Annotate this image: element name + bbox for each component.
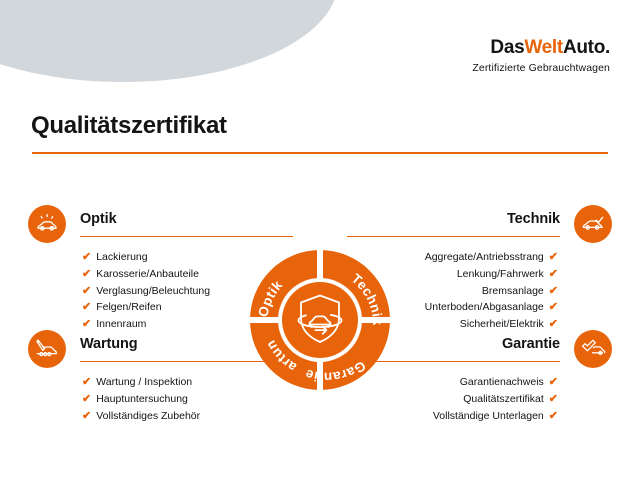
car-check-icon — [574, 205, 612, 243]
check-icon: ✔ — [82, 285, 91, 297]
list-item-label: Bremsanlage — [482, 285, 544, 297]
brand-word-das: Das — [490, 37, 524, 58]
panel-title-optik: Optik — [80, 211, 117, 227]
car-guarantee-check-icon — [574, 330, 612, 368]
list-item-label: Lenkung/Fahrwerk — [457, 268, 544, 280]
list-item: Vollständige Unterlagen✔ — [347, 408, 558, 425]
title-divider — [32, 152, 608, 154]
brand-word-auto: Auto. — [563, 37, 610, 58]
list-item-label: Vollständiges Zubehör — [96, 410, 200, 422]
brand-logo: DasWeltAuto. Zertifizierte Gebrauchtwage… — [472, 38, 610, 74]
wheel-center-disc — [282, 282, 358, 358]
check-icon: ✔ — [549, 393, 558, 405]
list-item-label: Vollständige Unterlagen — [433, 410, 544, 422]
page-title: Qualitätszertifikat — [31, 112, 227, 140]
check-icon: ✔ — [82, 251, 91, 263]
list-item-label: Felgen/Reifen — [96, 301, 161, 313]
check-icon: ✔ — [82, 376, 91, 388]
check-icon: ✔ — [82, 410, 91, 422]
list-item-label: Lackierung — [96, 251, 147, 263]
brand-word-welt: Welt — [524, 37, 563, 58]
check-icon: ✔ — [82, 268, 91, 280]
brand-wordmark: DasWeltAuto. — [472, 38, 610, 57]
car-sparkle-icon — [28, 205, 66, 243]
list-item-label: Wartung / Inspektion — [96, 376, 192, 388]
list-item: ✔Vollständiges Zubehör — [82, 408, 293, 425]
check-icon: ✔ — [82, 318, 91, 330]
check-icon: ✔ — [82, 393, 91, 405]
list-item-label: Aggregate/Antriebsstrang — [425, 251, 544, 263]
certificate-page: DasWeltAuto. Zertifizierte Gebrauchtwage… — [0, 0, 640, 480]
panel-title-wartung: Wartung — [80, 336, 138, 352]
check-icon: ✔ — [549, 268, 558, 280]
list-item-label: Karosserie/Anbauteile — [96, 268, 199, 280]
check-icon: ✔ — [549, 318, 558, 330]
check-icon: ✔ — [549, 410, 558, 422]
list-item-label: Verglasung/Beleuchtung — [96, 285, 210, 297]
list-item-label: Garantienachweis — [460, 376, 544, 388]
check-icon: ✔ — [82, 301, 91, 313]
panel-title-technik: Technik — [507, 211, 560, 227]
quality-wheel-diagram: Optik Technik Garantie Wartung — [232, 232, 408, 408]
check-icon: ✔ — [549, 285, 558, 297]
car-wrench-icon — [28, 330, 66, 368]
list-item-label: Qualitätszertifikat — [463, 393, 544, 405]
list-item-label: Hauptuntersuchung — [96, 393, 188, 405]
check-icon: ✔ — [549, 251, 558, 263]
header-blob-shape — [0, 0, 338, 82]
brand-tagline: Zertifizierte Gebrauchtwagen — [472, 63, 610, 74]
list-item-label: Unterboden/Abgasanlage — [425, 301, 544, 313]
list-item-label: Sicherheit/Elektrik — [460, 318, 544, 330]
check-icon: ✔ — [549, 301, 558, 313]
list-item-label: Innenraum — [96, 318, 146, 330]
panel-title-garantie: Garantie — [502, 336, 560, 352]
check-icon: ✔ — [549, 376, 558, 388]
